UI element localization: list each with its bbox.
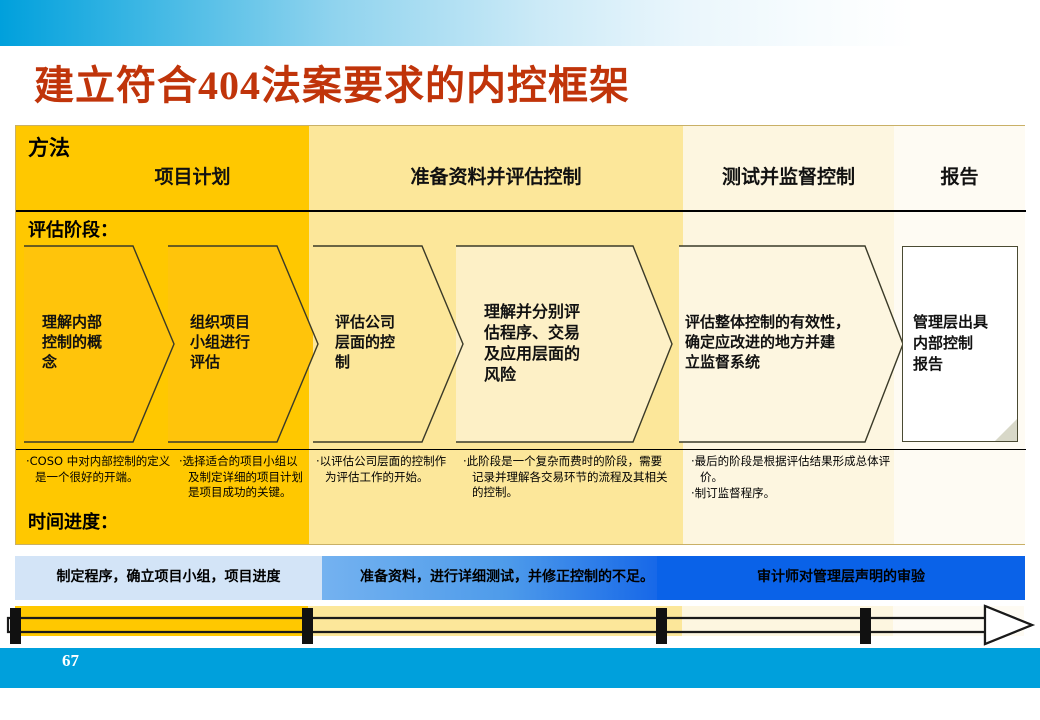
timeline-segment-3-label: 审计师对管理层声明的审验 bbox=[757, 569, 925, 587]
note-group-4: ·此阶段是一个复杂而费时的阶段，需要记录并理解各交易环节的流程及其相关的控制。 bbox=[463, 454, 668, 532]
process-step-3-label: 评估公司层面的控制 bbox=[313, 314, 429, 373]
note-group-2: ·选择适合的项目小组以及制定详细的项目计划是项目成功的关键。 bbox=[179, 454, 306, 532]
timeline-segment-1[interactable]: 制定程序，确立项目小组，项目进度 bbox=[15, 556, 322, 600]
column-title-prepare-evaluate: 准备资料并评估控制 bbox=[309, 162, 683, 189]
column-title-test-monitor: 测试并监督控制 bbox=[683, 162, 894, 189]
timeline-bars: 制定程序，确立项目小组，项目进度 准备资料，进行详细测试，并修正控制的不足。 审… bbox=[15, 556, 1025, 600]
timeline-arrow-bar bbox=[0, 604, 1040, 652]
note-bullet: ·制订监督程序。 bbox=[691, 486, 896, 502]
process-step-6-document[interactable]: 管理层出具内部控制报告 bbox=[902, 246, 1018, 442]
timeline-segment-3[interactable]: 审计师对管理层声明的审验 bbox=[657, 556, 1025, 600]
framework-diagram: 方法 项目计划 准备资料并评估控制 测试并监督控制 报告 评估阶段： 理解内部控… bbox=[15, 125, 1025, 545]
note-group-5: ·最后的阶段是根据评估结果形成总体评价。 ·制订监督程序。 bbox=[691, 454, 896, 532]
arrow-tick-1 bbox=[302, 608, 313, 644]
page-title: 建立符合404法案要求的内控框架 bbox=[34, 60, 934, 112]
note-group-3: ·以评估公司层面的控制作为评估工作的开始。 bbox=[316, 454, 456, 532]
arrow-tick-3 bbox=[860, 608, 871, 644]
evaluation-phase-label: 评估阶段： bbox=[28, 216, 118, 242]
process-step-1-label: 理解内部控制的概念 bbox=[24, 314, 142, 373]
note-bullet: ·此阶段是一个复杂而费时的阶段，需要记录并理解各交易环节的流程及其相关的控制。 bbox=[463, 454, 668, 501]
note-bullet: ·选择适合的项目小组以及制定详细的项目计划是项目成功的关键。 bbox=[179, 454, 306, 501]
note-bullet: ·COSO 中对内部控制的定义是一个很好的开端。 bbox=[26, 454, 171, 485]
arrow-tick-2 bbox=[656, 608, 667, 644]
bottom-white-strip bbox=[0, 688, 1040, 720]
method-label: 方法 bbox=[28, 132, 70, 162]
timeline-segment-1-label: 制定程序，确立项目小组，项目进度 bbox=[57, 569, 281, 587]
arrow-graphic bbox=[0, 604, 1040, 652]
slide-number: 67 bbox=[62, 651, 79, 671]
bullets-divider-line bbox=[16, 449, 1026, 450]
header-divider-line bbox=[16, 210, 1026, 212]
process-step-5-label: 评估整体控制的有效性，确定应改进的地方并建立监督系统 bbox=[679, 314, 887, 373]
process-step-2-label: 组织项目小组进行评估 bbox=[168, 314, 284, 373]
column-title-project-plan: 项目计划 bbox=[76, 162, 309, 189]
top-decorative-banner bbox=[0, 0, 1040, 46]
process-step-4-label: 理解并分别评估程序、交易及应用层面的风险 bbox=[456, 302, 621, 386]
bottom-banner bbox=[0, 648, 1040, 688]
timeline-segment-2-label: 准备资料，进行详细测试，并修正控制的不足。 bbox=[360, 569, 654, 587]
process-step-4[interactable]: 理解并分别评估程序、交易及应用层面的风险 bbox=[456, 246, 672, 442]
note-bullet: ·最后的阶段是根据评估结果形成总体评价。 bbox=[691, 454, 896, 485]
framework-header-row: 方法 项目计划 准备资料并评估控制 测试并监督控制 报告 bbox=[16, 126, 1026, 210]
process-step-5[interactable]: 评估整体控制的有效性，确定应改进的地方并建立监督系统 bbox=[679, 246, 903, 442]
note-bullet: ·以评估公司层面的控制作为评估工作的开始。 bbox=[316, 454, 456, 485]
page-fold-icon bbox=[995, 419, 1017, 441]
column-title-report: 报告 bbox=[894, 162, 1025, 189]
process-step-6-label: 管理层出具内部控制报告 bbox=[903, 313, 988, 376]
timeline-segment-2[interactable]: 准备资料，进行详细测试，并修正控制的不足。 bbox=[322, 556, 657, 600]
time-progress-label: 时间进度： bbox=[28, 508, 118, 534]
arrow-tick-start bbox=[10, 608, 21, 644]
